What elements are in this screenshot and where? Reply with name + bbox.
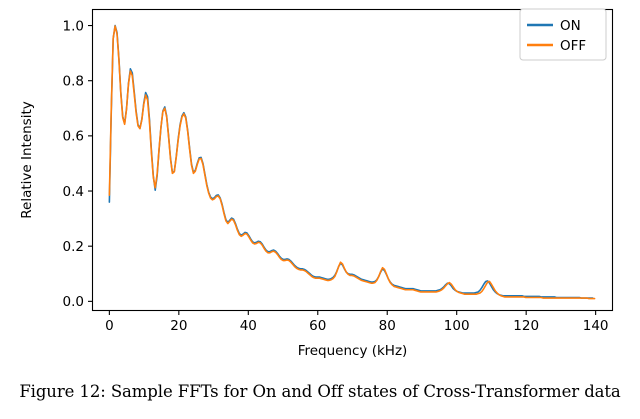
y-tick-label: 0.0 — [63, 294, 84, 310]
figure-caption: Figure 12: Sample FFTs for On and Off st… — [0, 382, 640, 401]
legend-label-on: ON — [560, 18, 581, 34]
x-tick-label: 40 — [240, 318, 257, 334]
x-tick-label: 120 — [513, 318, 539, 334]
y-tick-label: 0.8 — [63, 74, 84, 90]
legend: ONOFF — [520, 9, 606, 60]
fft-line-chart: 020406080100120140Frequency (kHz)0.00.20… — [0, 0, 640, 419]
y-tick-label: 1.0 — [63, 18, 84, 34]
y-tick-label: 0.6 — [63, 129, 84, 145]
legend-label-off: OFF — [560, 38, 586, 54]
x-axis: 020406080100120140Frequency (kHz) — [105, 311, 608, 359]
x-tick-label: 20 — [170, 318, 187, 334]
x-tick-label: 0 — [105, 318, 114, 334]
y-tick-label: 0.2 — [63, 239, 84, 255]
x-tick-label: 140 — [583, 318, 609, 334]
y-tick-label: 0.4 — [63, 184, 84, 200]
y-axis: 0.00.20.40.60.81.0Relative Intensity — [19, 18, 92, 310]
x-tick-label: 60 — [309, 318, 326, 334]
x-axis-label: Frequency (kHz) — [298, 343, 408, 359]
x-tick-label: 100 — [444, 318, 470, 334]
figure-container: 020406080100120140Frequency (kHz)0.00.20… — [0, 0, 640, 419]
x-tick-label: 80 — [379, 318, 396, 334]
y-axis-label: Relative Intensity — [19, 101, 35, 219]
